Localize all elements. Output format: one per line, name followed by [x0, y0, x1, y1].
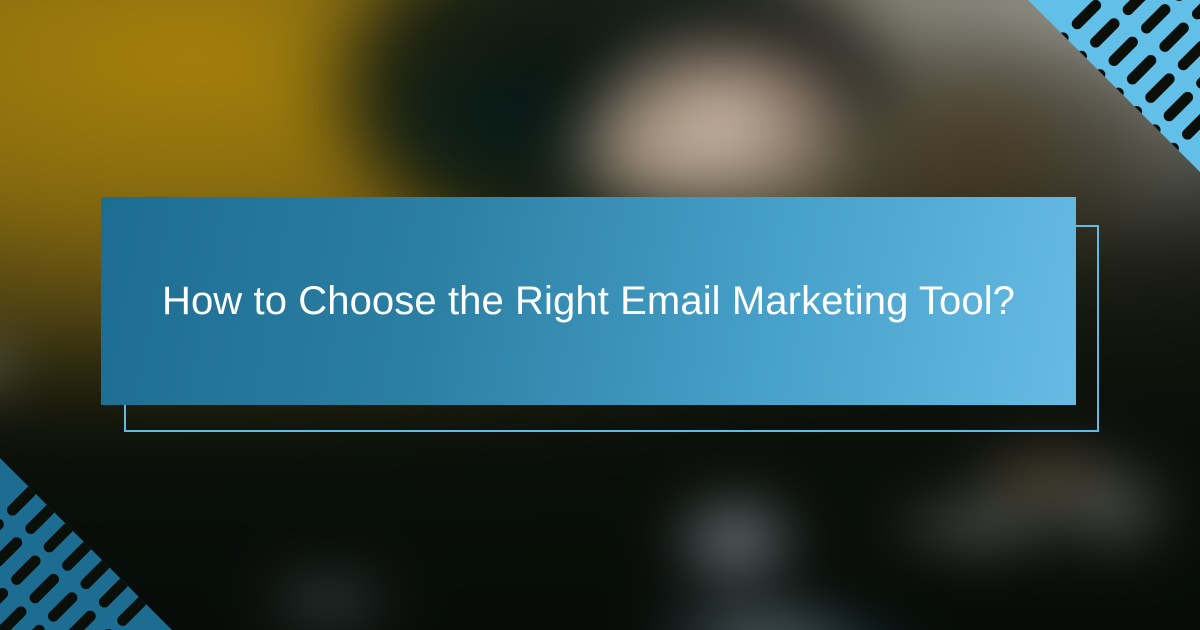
corner-decoration-top-right-icon [1028, 0, 1200, 172]
featured-image-card: How to Choose the Right Email Marketing … [0, 0, 1200, 630]
page-title: How to Choose the Right Email Marketing … [162, 273, 1015, 330]
title-banner: How to Choose the Right Email Marketing … [101, 197, 1076, 405]
corner-decoration-bottom-left-icon [0, 458, 172, 630]
